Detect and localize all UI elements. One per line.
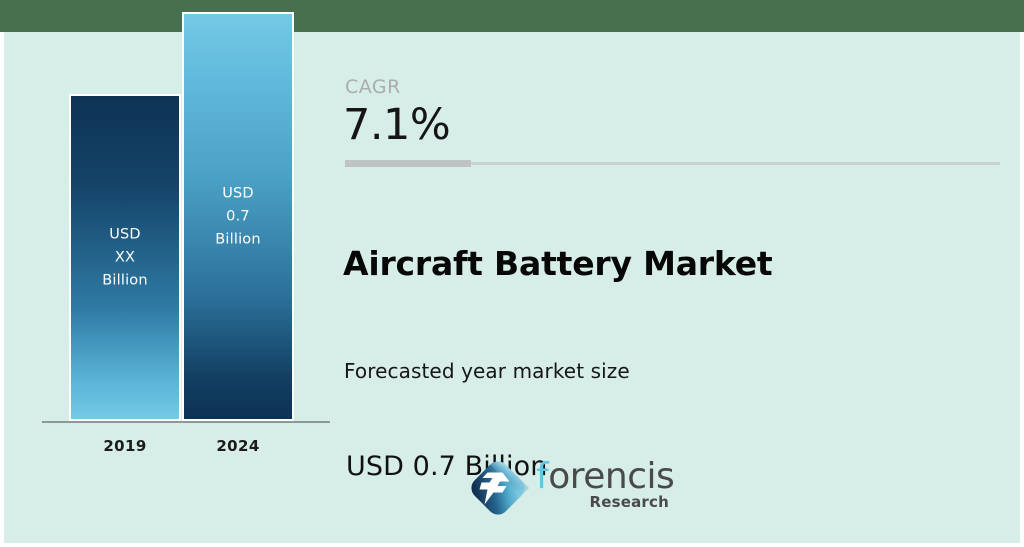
- x-tick-2019: 2019: [69, 437, 181, 455]
- forencis-f-letter: f: [536, 456, 548, 497]
- bar-2019[interactable]: USD XX Billion: [69, 94, 181, 421]
- cagr-label: CAGR: [345, 76, 401, 98]
- forecast-caption: Forecasted year market size: [344, 359, 630, 383]
- bar-2024-currency: USD: [184, 182, 292, 205]
- divider-thin-segment: [471, 162, 1000, 165]
- bar-2024-scale: Billion: [184, 228, 292, 251]
- bar-2019-value-label: USD XX Billion: [71, 223, 179, 292]
- bar-2024[interactable]: USD 0.7 Billion: [182, 12, 294, 421]
- forencis-diamond-f-icon: [466, 456, 530, 520]
- header-green-band: [0, 0, 1024, 32]
- forencis-name: forencis: [536, 458, 674, 496]
- forencis-wordmark: forencis Research: [536, 458, 671, 518]
- bar-2019-currency: USD: [71, 223, 179, 246]
- x-tick-2024: 2024: [182, 437, 294, 455]
- infographic-root: USD XX Billion USD 0.7 Billion 2019 2024…: [0, 0, 1024, 547]
- forencis-research-subtitle: Research: [589, 493, 669, 511]
- page-title: Aircraft Battery Market: [343, 244, 772, 283]
- divider-accent-segment: [345, 160, 471, 167]
- bar-chart: USD XX Billion USD 0.7 Billion 2019 2024: [4, 32, 340, 543]
- bar-2019-scale: Billion: [71, 269, 179, 292]
- bar-2019-amount: XX: [71, 246, 179, 269]
- forencis-logo[interactable]: forencis Research: [466, 450, 671, 525]
- bar-2024-amount: 0.7: [184, 205, 292, 228]
- cagr-value: 7.1%: [343, 100, 450, 150]
- forencis-rest-letters: orencis: [548, 456, 674, 497]
- bar-2024-value-label: USD 0.7 Billion: [184, 182, 292, 251]
- info-panel: CAGR 7.1% Aircraft Battery Market Foreca…: [340, 32, 1020, 543]
- x-axis-line: [42, 421, 330, 423]
- infographic-canvas: USD XX Billion USD 0.7 Billion 2019 2024…: [4, 32, 1020, 543]
- divider: [345, 160, 1000, 167]
